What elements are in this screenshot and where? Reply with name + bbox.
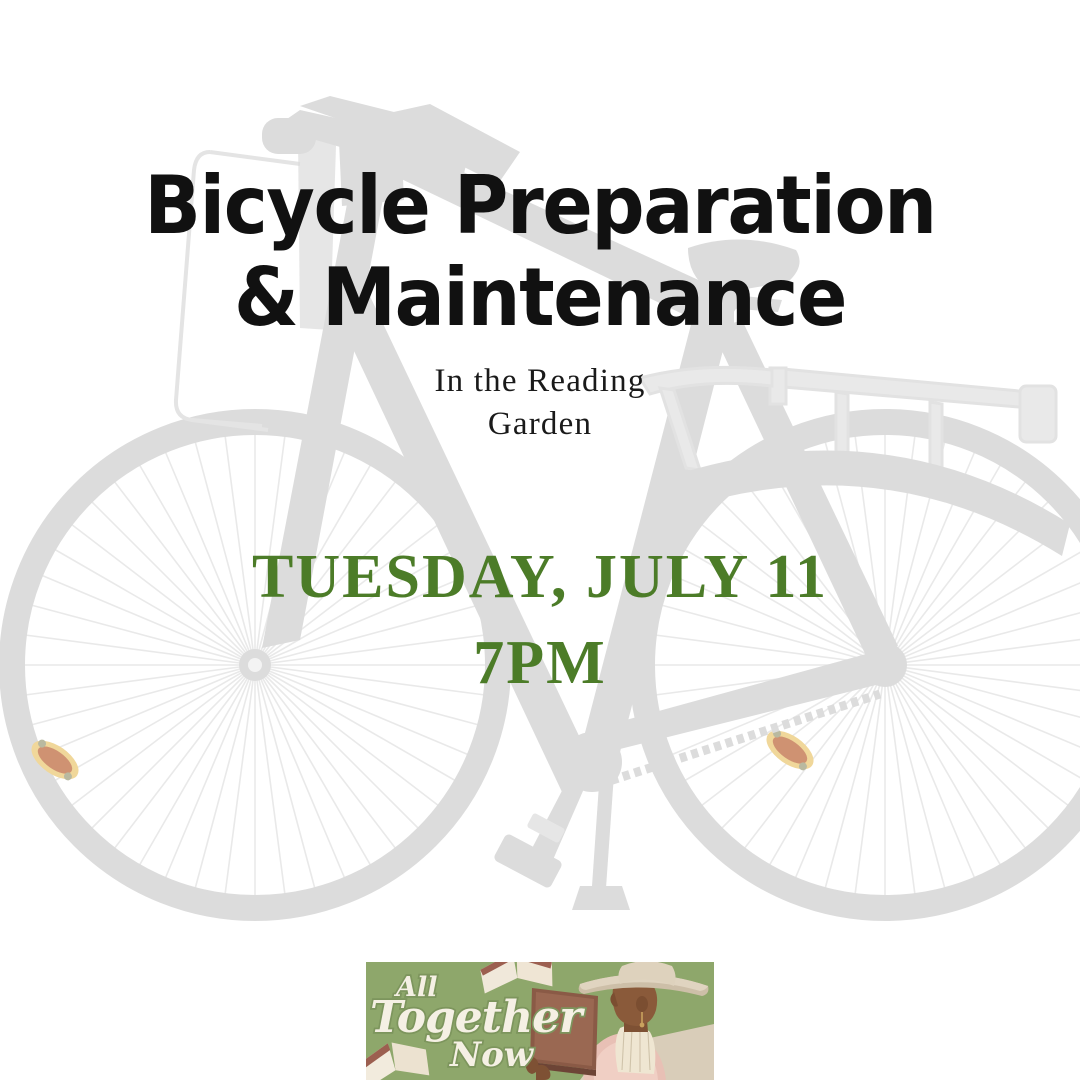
event-poster: Bicycle Preparation & Maintenance In the… bbox=[0, 0, 1080, 1080]
title-line-1: Bicycle Preparation bbox=[38, 160, 1042, 252]
event-datetime: TUESDAY, JULY 11 7PM bbox=[0, 535, 1080, 706]
event-time: 7PM bbox=[0, 621, 1080, 707]
logo-line-now: Now bbox=[449, 1035, 535, 1075]
poster-text-layer: Bicycle Preparation & Maintenance In the… bbox=[0, 0, 1080, 1080]
event-date: TUESDAY, JULY 11 bbox=[0, 535, 1080, 621]
title-line-2: & Maintenance bbox=[38, 252, 1042, 344]
subtitle: In the Reading Garden bbox=[0, 360, 1080, 446]
subtitle-line-2: Garden bbox=[0, 403, 1080, 446]
page-title: Bicycle Preparation & Maintenance bbox=[0, 160, 1080, 344]
subtitle-line-1: In the Reading bbox=[0, 360, 1080, 403]
all-together-now-logo: All Together Now bbox=[366, 962, 714, 1080]
